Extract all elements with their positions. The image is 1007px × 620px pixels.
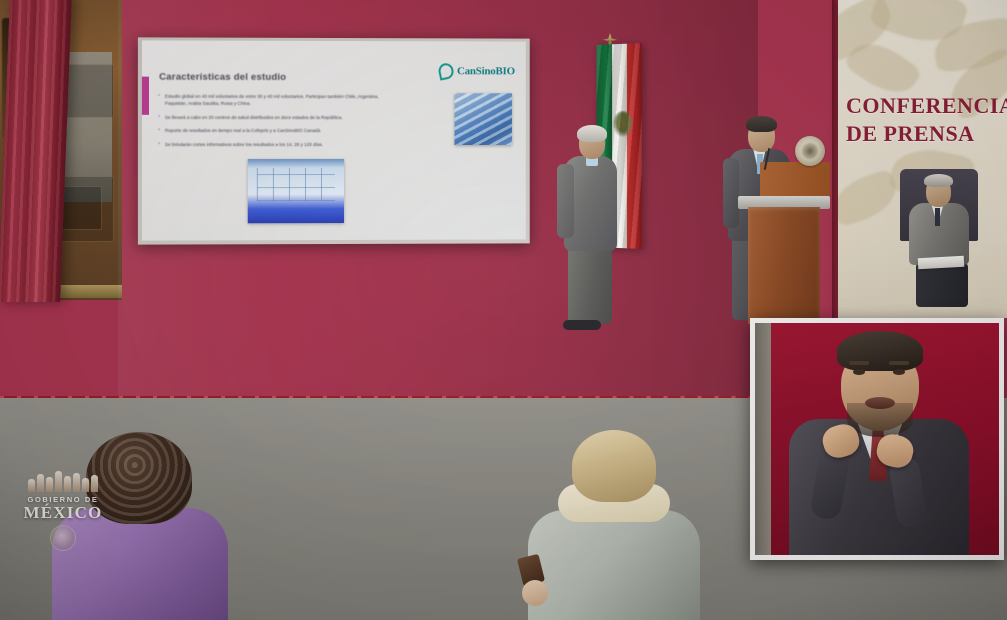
eyebrow-right [889,361,909,365]
historic-figures-icon [8,468,118,492]
torso-jacket [528,510,700,620]
mouth [865,397,895,409]
slide-bullet-text: Estudio global en 40 mil voluntarios de … [165,93,384,108]
interpreter-figure [789,331,969,555]
presentation-slide: Características del estudio CanSinoBIO •… [142,40,526,240]
backdrop-title: CONFERENCIA DE PRENSA [846,92,1007,147]
hair [577,125,607,142]
shoes [563,320,601,330]
slide-bullet-list: • Estudio global en 40 mil voluntarios d… [158,93,384,155]
slide-bullet-item: • Se brindarán cortes informativos sobre… [158,141,384,148]
stage-person-standing [555,128,627,333]
cansinobio-mark-icon [438,62,456,81]
arm [557,164,574,238]
hair [924,174,953,187]
interpreter-video [755,323,999,555]
bullet-dot-icon: • [158,93,160,107]
cansinobio-logo-text: CanSinoBIO [457,65,515,77]
bullet-dot-icon: • [158,114,160,121]
hair [837,331,923,371]
slide-image-vaccine-vials [248,159,344,223]
slide-bullet-item: • Reporte de resultados en tiempo real a… [158,127,384,134]
sign-language-interpreter-window[interactable] [750,318,1004,560]
slide-title: Características del estudio [159,72,286,83]
projection-screen: Características del estudio CanSinoBIO •… [138,37,530,244]
eye-left [853,369,865,375]
slide-accent-bar [142,77,149,115]
broadcast-frame: CONFERENCIA DE PRENSA Características de… [0,0,1007,620]
watermark-line2: MÉXICO [8,504,118,522]
crimson-drape [0,0,72,302]
slide-bullet-text: Se brindarán cortes informativos sobre l… [165,141,323,148]
bullet-dot-icon: • [158,141,160,148]
wooden-door-wall [0,0,122,300]
mexican-national-seal-icon [795,136,825,166]
hand [522,580,548,606]
slide-bullet-item: • Se llevará a cabo en 20 centros de sal… [158,114,384,121]
slide-image-vaccine-storage [455,93,512,145]
legs [916,263,968,307]
gobierno-de-mexico-watermark: GOBIERNO DE MÉXICO [8,468,118,552]
eye-right [893,369,905,375]
hair [746,116,777,132]
slide-bullet-item: • Estudio global en 40 mil voluntarios d… [158,93,384,108]
backdrop-title-line2: DE PRENSA [846,120,1007,148]
bullet-dot-icon: • [158,127,160,134]
interpreter-background-edge [755,323,771,555]
podium-column [748,207,820,324]
arm [723,158,739,228]
slide-bullet-text: Reporte de resultados en tiempo real a l… [165,127,321,134]
backdrop-title-line1: CONFERENCIA [846,92,1007,120]
stage-person-seated [898,163,982,311]
tie [935,208,940,226]
legs [568,246,612,324]
cansinobio-logo: CanSinoBIO [439,63,515,79]
audience-member [520,430,710,620]
slide-bullet-text: Se llevará a cabo en 20 centros de salud… [165,114,343,121]
podium [748,196,820,324]
eyebrow-left [849,361,869,365]
government-seal-icon [50,525,76,551]
hair [572,430,656,502]
